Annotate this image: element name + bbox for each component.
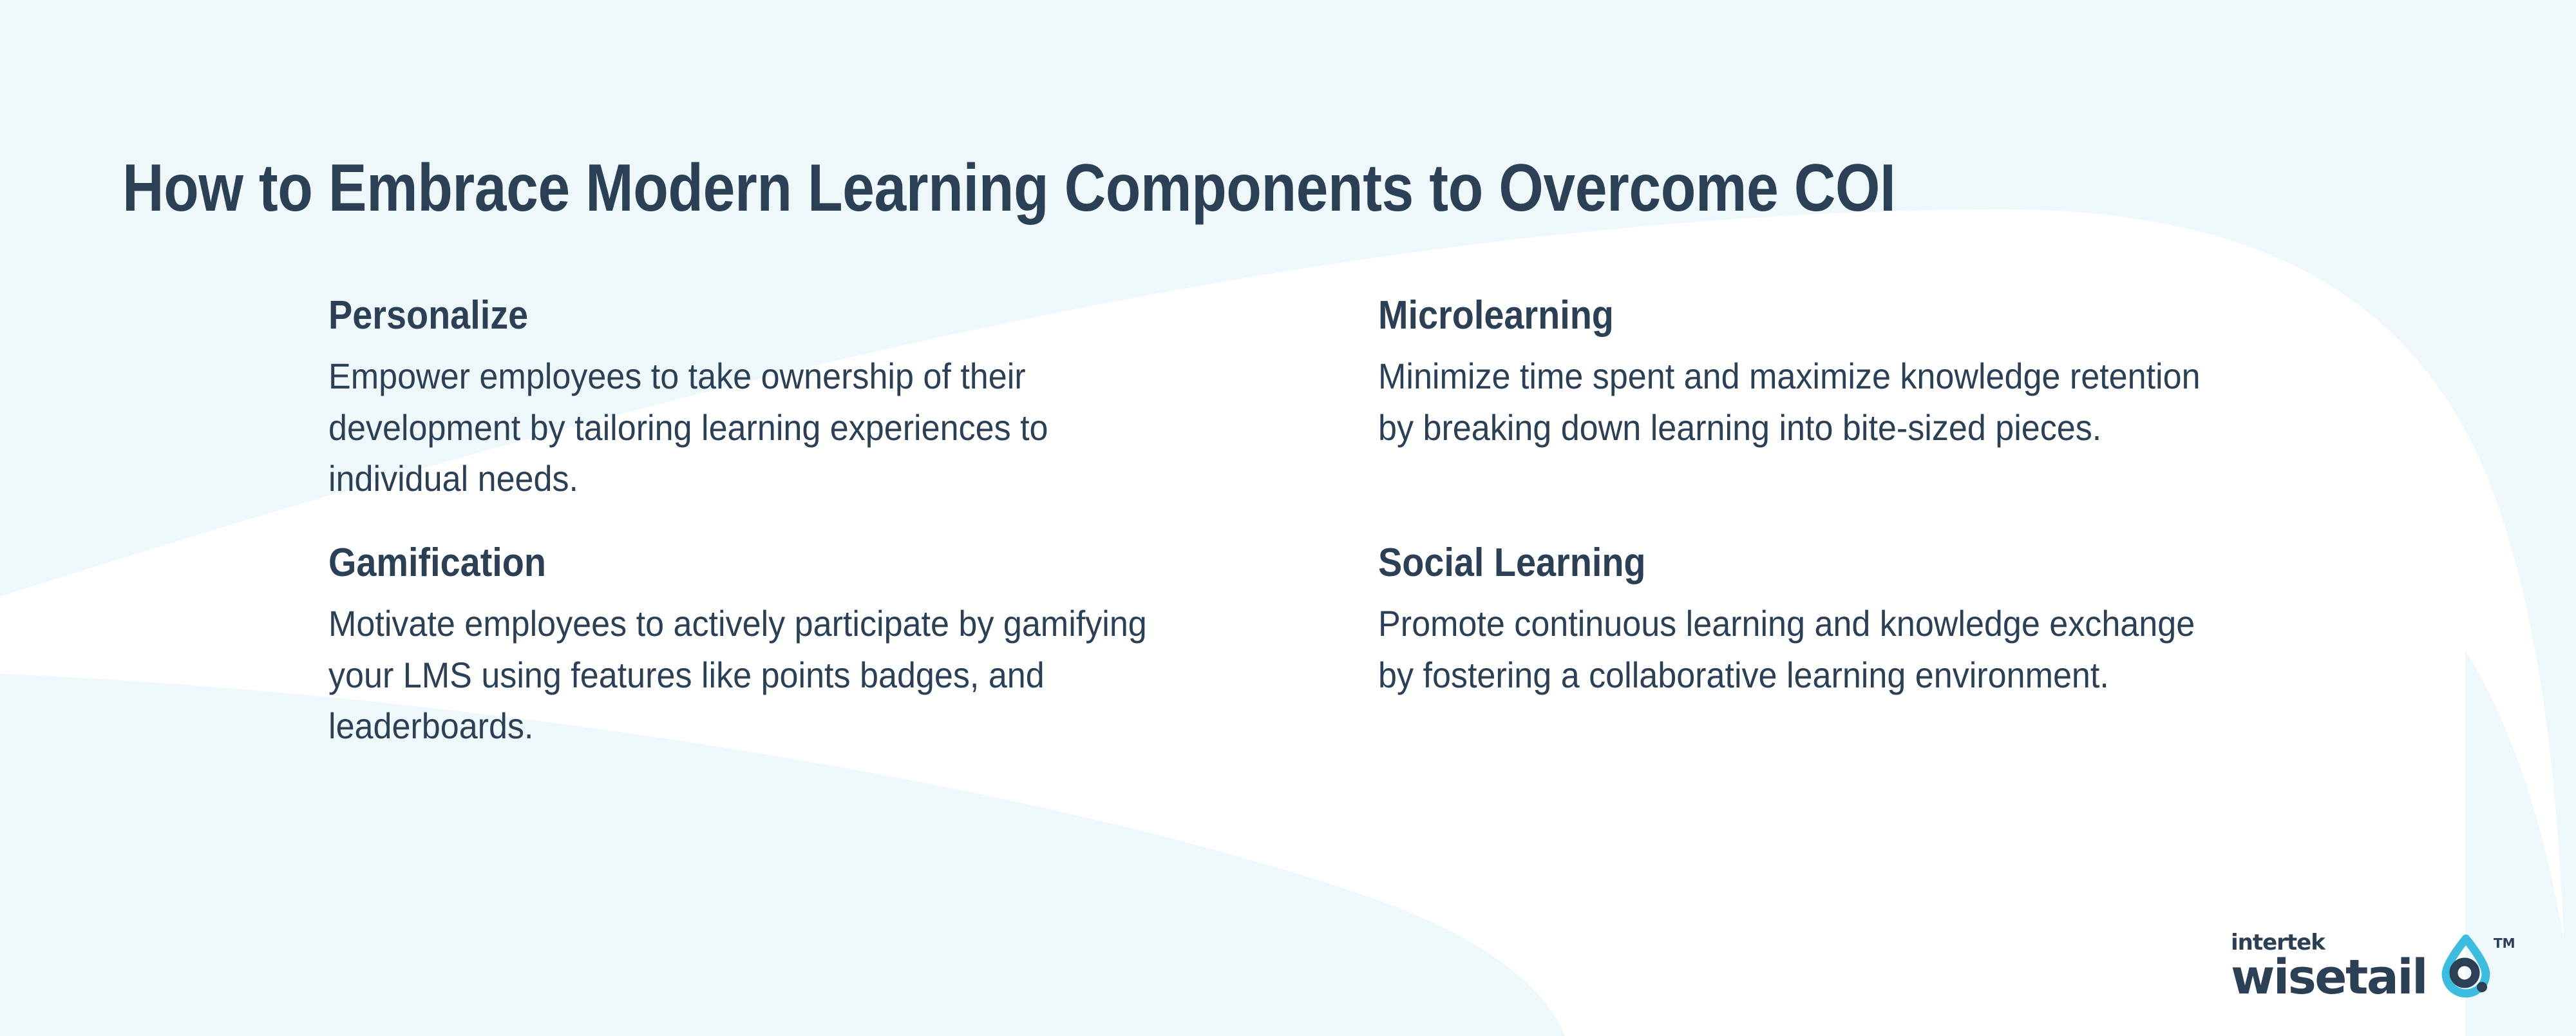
- component-body: Motivate employees to actively participa…: [328, 598, 1155, 752]
- component-heading: Social Learning: [1378, 541, 2178, 585]
- component-body: Empower employees to take ownership of t…: [328, 350, 1155, 504]
- logo-wordmark: intertek wisetail: [2231, 932, 2427, 999]
- component-body: Minimize time spent and maximize knowled…: [1378, 350, 2204, 453]
- component-personalize: Personalize Empower employees to take ow…: [328, 293, 1217, 504]
- component-gamification: Gamification Motivate employees to activ…: [328, 541, 1217, 752]
- component-body: Promote continuous learning and knowledg…: [1378, 598, 2204, 700]
- droplet-icon: TM: [2438, 934, 2494, 999]
- droplet-ring: [2454, 962, 2476, 984]
- component-heading: Microlearning: [1378, 293, 2178, 338]
- component-social-learning: Social Learning Promote continuous learn…: [1378, 541, 2267, 752]
- wisetail-logo: intertek wisetail TM: [2231, 932, 2494, 999]
- slide-canvas: How to Embrace Modern Learning Component…: [0, 0, 2576, 1036]
- droplet-dot: [2477, 982, 2487, 992]
- droplet-glyph: [2438, 934, 2494, 999]
- component-microlearning: Microlearning Minimize time spent and ma…: [1378, 293, 2267, 504]
- trademark-symbol: TM: [2494, 935, 2515, 951]
- component-heading: Personalize: [328, 293, 1128, 338]
- logo-brand: wisetail: [2231, 957, 2427, 999]
- components-grid: Personalize Empower employees to take ow…: [328, 293, 2325, 752]
- component-heading: Gamification: [328, 541, 1128, 585]
- page-title: How to Embrace Modern Learning Component…: [122, 153, 1895, 224]
